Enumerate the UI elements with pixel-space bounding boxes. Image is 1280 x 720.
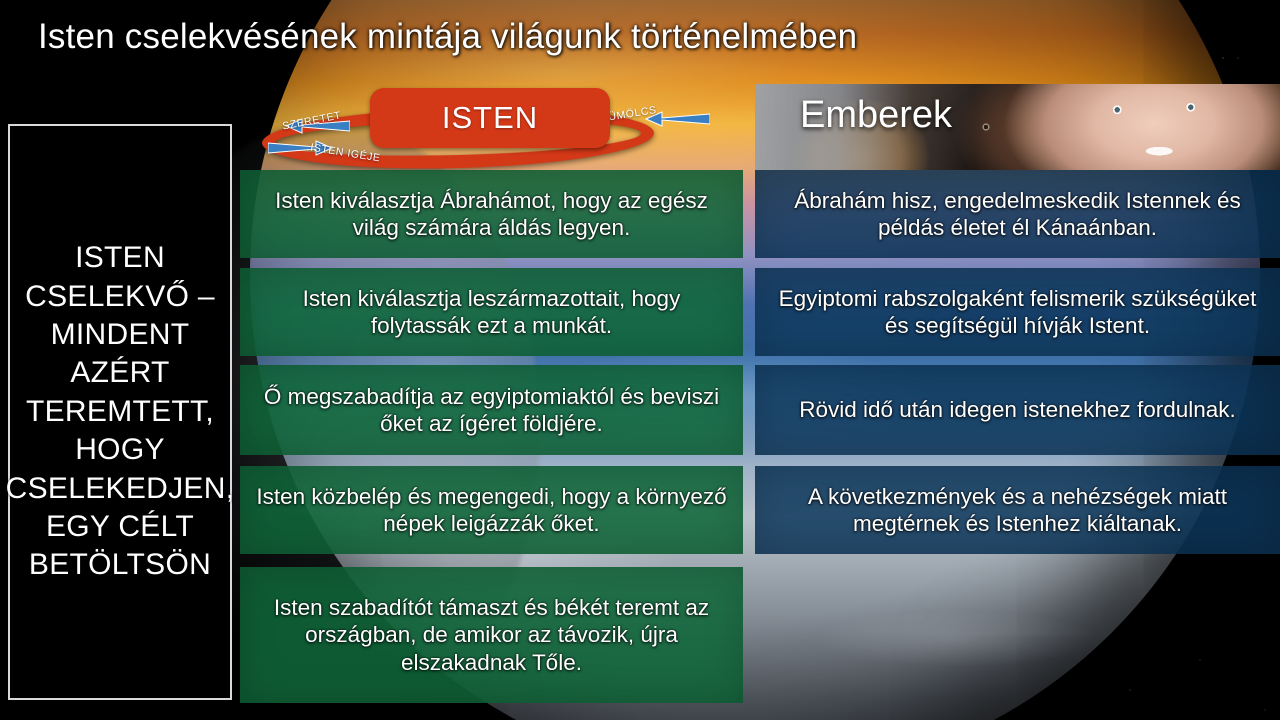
isten-item-box: Isten kiválasztja Ábrahámot, hogy az egé…	[240, 170, 743, 258]
isten-column-header: SZERETET ISTEN IGÉJE GYÜMÖLCS ISTEN	[240, 84, 750, 170]
slide-title: Isten cselekvésének mintája világunk tör…	[38, 18, 857, 57]
isten-header-label: ISTEN	[442, 100, 538, 136]
slide-canvas: Isten cselekvésének mintája világunk tör…	[0, 0, 1280, 720]
isten-item-box: Isten közbelép és megengedi, hogy a körn…	[240, 466, 743, 554]
isten-item-box: Isten kiválasztja leszármazottait, hogy …	[240, 268, 743, 356]
emberek-item-box: A következmények és a nehézségek miatt m…	[755, 466, 1280, 554]
sidebar-statement-text: ISTEN CSELEKVŐ – MINDENT AZÉRT TEREMTETT…	[4, 235, 237, 589]
isten-item-box: Isten szabadítót támaszt és békét teremt…	[240, 567, 743, 703]
emberek-column-header: Emberek	[755, 84, 1280, 170]
emberek-item-box: Rövid idő után idegen istenekhez forduln…	[755, 365, 1280, 455]
emberek-header-label: Emberek	[800, 94, 952, 137]
isten-item-box: Ő megszabadítja az egyiptomiaktól és bev…	[240, 365, 743, 455]
isten-header-pill: ISTEN	[370, 88, 610, 148]
emberek-item-box: Ábrahám hisz, engedelmeskedik Istennek é…	[755, 170, 1280, 258]
emberek-item-box: Egyiptomi rabszolgaként felismerik szüks…	[755, 268, 1280, 356]
sidebar-statement-box: ISTEN CSELEKVŐ – MINDENT AZÉRT TEREMTETT…	[8, 124, 232, 700]
